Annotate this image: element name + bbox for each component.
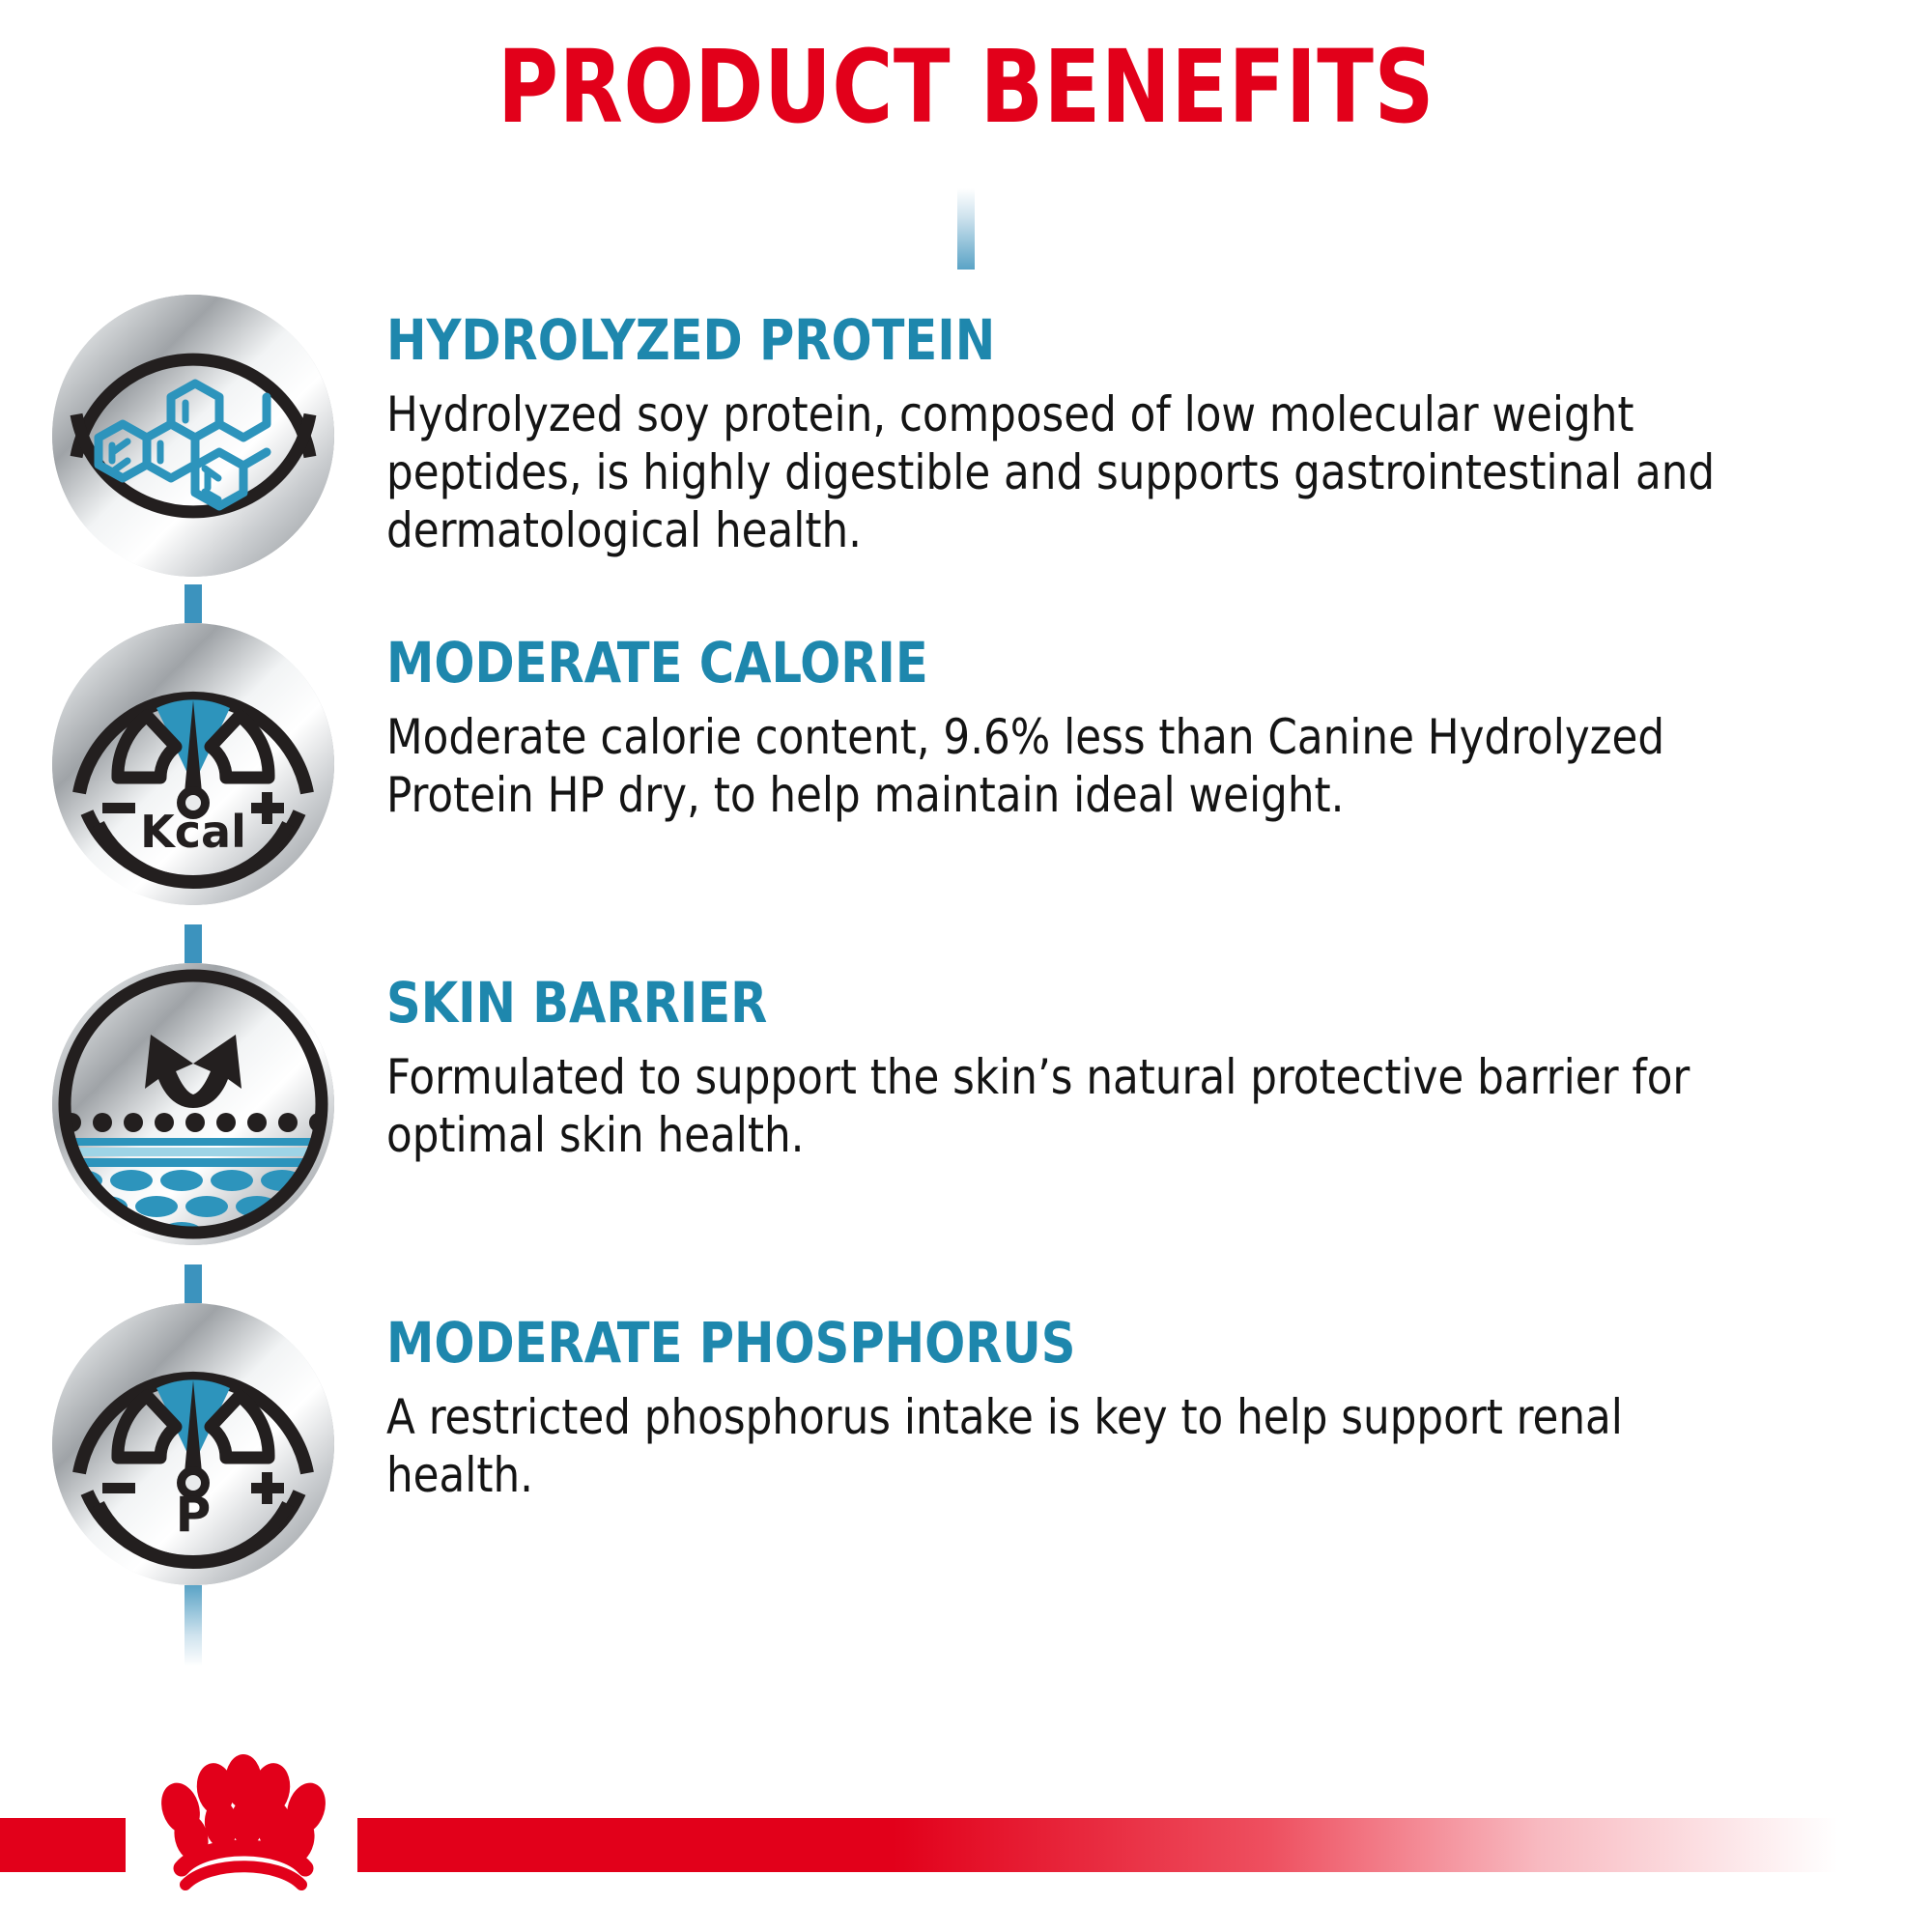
benefit-text-cell: MODERATE CALORIE Moderate calorie conten… xyxy=(386,584,1932,824)
connector-top xyxy=(957,188,975,270)
benefits-list: HYDROLYZED PROTEIN Hydrolyzed soy protei… xyxy=(0,295,1932,1585)
molecule-icon xyxy=(52,295,334,577)
skin-barrier-icon xyxy=(52,963,334,1245)
benefit-row: SKIN BARRIER Formulated to support the s… xyxy=(0,924,1932,1264)
benefit-title: SKIN BARRIER xyxy=(386,975,1773,1031)
gauge-phosphorus-icon: P xyxy=(52,1303,334,1585)
footer xyxy=(0,1710,1932,1932)
benefit-text-cell: MODERATE PHOSPHORUS A restricted phospho… xyxy=(386,1264,1932,1504)
benefit-icon-cell xyxy=(0,295,386,577)
benefit-text-cell: HYDROLYZED PROTEIN Hydrolyzed soy protei… xyxy=(386,295,1932,559)
benefit-body: Formulated to support the skin’s natural… xyxy=(386,1048,1717,1164)
benefit-icon-cell: Kcal xyxy=(0,584,386,905)
page-title: PRODUCT BENEFITS xyxy=(77,37,1855,137)
benefit-title: MODERATE CALORIE xyxy=(386,635,1773,691)
royal-canin-crown-logo xyxy=(128,1745,359,1907)
benefit-text-cell: SKIN BARRIER Formulated to support the s… xyxy=(386,924,1932,1164)
footer-rule-left xyxy=(0,1818,126,1872)
benefit-body: Moderate calorie content, 9.6% less than… xyxy=(386,708,1717,824)
benefit-icon-cell: P xyxy=(0,1264,386,1585)
benefit-row: HYDROLYZED PROTEIN Hydrolyzed soy protei… xyxy=(0,295,1932,584)
benefit-title: HYDROLYZED PROTEIN xyxy=(386,312,1773,368)
benefit-row: Kcal MODERATE CALORIE Moderate calorie c… xyxy=(0,584,1932,924)
benefit-icon-cell xyxy=(0,924,386,1245)
benefit-body: Hydrolyzed soy protein, composed of low … xyxy=(386,385,1717,559)
footer-rule-right xyxy=(357,1818,1932,1872)
benefit-title: MODERATE PHOSPHORUS xyxy=(386,1315,1773,1371)
benefit-row: P MODERATE PHOSPHORUS A restricted phosp… xyxy=(0,1264,1932,1585)
gauge-label-phosphorus: P xyxy=(176,1487,212,1543)
benefit-body: A restricted phosphorus intake is key to… xyxy=(386,1388,1717,1504)
connector-bottom xyxy=(185,1585,202,1666)
gauge-label-kcal: Kcal xyxy=(140,806,246,858)
gauge-kcal-icon: Kcal xyxy=(52,623,334,905)
